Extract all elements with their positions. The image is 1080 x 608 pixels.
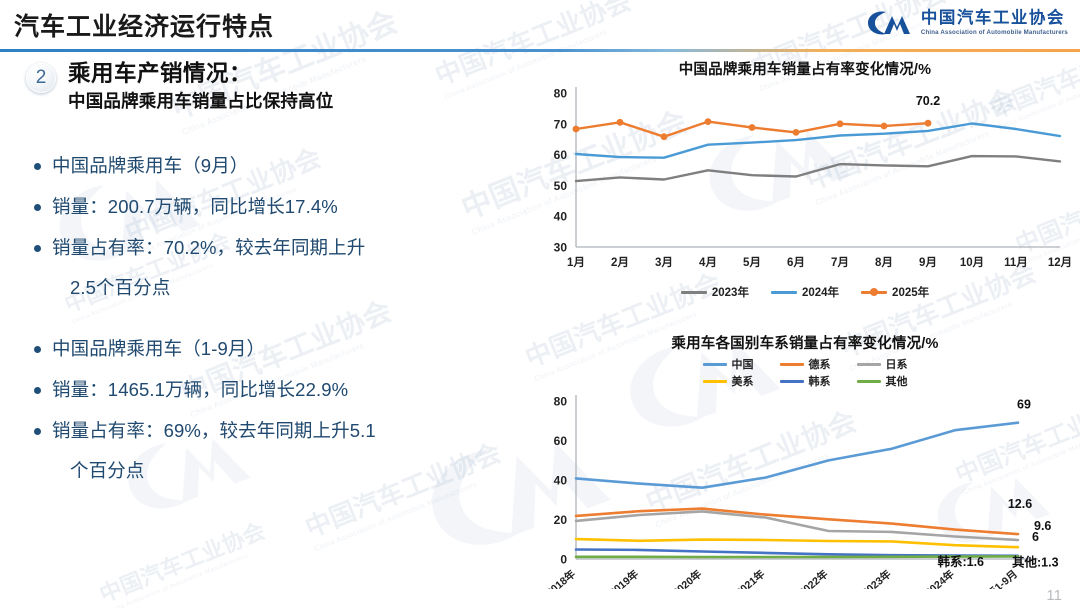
chart1-legend-item: 2025年: [861, 284, 929, 300]
chart2-legend: 中国德系日系美系韩系其他: [530, 356, 1080, 389]
svg-text:10月: 10月: [960, 256, 984, 269]
page-title: 汽车工业经济运行特点: [14, 7, 274, 43]
bullet-group-september: 中国品牌乘用车（9月）销量：200.7万辆，同比增长17.4%销量占有率：70.…: [34, 152, 514, 302]
logo-name-cn: 中国汽车工业协会: [921, 10, 1068, 27]
svg-text:20: 20: [554, 513, 568, 527]
section-heading: 2 乘用车产销情况： 中国品牌乘用车销量占比保持高位: [26, 60, 334, 113]
legend-swatch-icon: [857, 380, 881, 383]
svg-text:2020年: 2020年: [670, 567, 705, 589]
svg-text:0: 0: [560, 553, 567, 567]
bullet-dot-icon: [34, 346, 41, 353]
chart2-legend-item: 日系: [857, 356, 908, 372]
chart-china-brand-share: 中国品牌乘用车销量占有率变化情况/% 3040506070801月2月3月4月5…: [530, 58, 1080, 323]
svg-text:60: 60: [554, 148, 568, 162]
chart1-svg: 3040506070801月2月3月4月5月6月7月8月9月10月11月12月7…: [530, 79, 1080, 279]
svg-text:12月: 12月: [1048, 256, 1072, 269]
legend-swatch-icon: [857, 363, 881, 366]
svg-text:6月: 6月: [787, 256, 805, 269]
legend-label: 德系: [809, 356, 831, 372]
chart1-legend-item: 2024年: [771, 284, 839, 300]
legend-label: 日系: [886, 356, 908, 372]
bullet-dot-icon: [34, 428, 41, 435]
bullet-item: 2.5个百分点: [52, 274, 514, 302]
bullet-item: 中国品牌乘用车（9月）: [34, 152, 514, 180]
svg-text:1月: 1月: [567, 256, 585, 269]
bullet-spacer: [52, 285, 59, 292]
svg-text:70.2: 70.2: [916, 94, 940, 108]
bullet-text: 中国品牌乘用车（9月）: [52, 152, 248, 180]
bullet-item: 销量占有率：70.2%，较去年同期上升: [34, 234, 514, 262]
svg-text:9月: 9月: [919, 256, 937, 269]
bullet-text: 销量占有率：70.2%，较去年同期上升: [52, 234, 365, 262]
chart2-legend-item: 韩系: [780, 373, 831, 389]
page-header: 汽车工业经济运行特点 中国汽车工业协会 China Association of…: [0, 0, 1080, 52]
legend-swatch-icon: [771, 291, 797, 294]
bullet-text: 2.5个百分点: [70, 274, 170, 302]
svg-text:40: 40: [554, 210, 568, 224]
section-title-secondary: 中国品牌乘用车销量占比保持高位: [68, 90, 334, 113]
svg-text:30: 30: [554, 241, 568, 255]
bullet-list: 中国品牌乘用车（9月）销量：200.7万辆，同比增长17.4%销量占有率：70.…: [34, 152, 514, 498]
bullet-dot-icon: [34, 245, 41, 252]
bullet-text: 中国品牌乘用车（1-9月）: [52, 335, 265, 363]
bullet-group-spacer: [34, 315, 514, 335]
svg-text:50: 50: [554, 179, 568, 193]
svg-text:60: 60: [554, 434, 568, 448]
chart2-legend-item: 美系: [703, 373, 754, 389]
svg-text:3月: 3月: [655, 256, 673, 269]
legend-label: 美系: [732, 373, 754, 389]
bullet-text: 销量占有率：69%，较去年同期上升5.1: [52, 417, 376, 445]
chart1-title: 中国品牌乘用车销量占有率变化情况/%: [530, 58, 1080, 79]
svg-text:2024年: 2024年: [922, 567, 957, 589]
legend-label: 2023年: [712, 284, 749, 300]
caam-logo-icon: [866, 8, 912, 38]
section-number-badge: 2: [26, 63, 56, 93]
chart2-legend-item: 中国: [703, 356, 754, 372]
svg-text:2018年: 2018年: [544, 567, 579, 589]
bullet-dot-icon: [34, 387, 41, 394]
svg-text:40: 40: [554, 474, 568, 488]
svg-text:韩系:1.6: 韩系:1.6: [937, 554, 984, 569]
legend-label: 中国: [732, 356, 754, 372]
svg-text:11月: 11月: [1004, 256, 1028, 269]
svg-text:2019年: 2019年: [607, 567, 642, 589]
legend-swatch-icon: [861, 291, 887, 294]
svg-text:2025年1-9月: 2025年1-9月: [966, 567, 1020, 589]
bullet-text: 个百分点: [70, 457, 144, 485]
legend-swatch-icon: [780, 380, 804, 383]
legend-swatch-icon: [703, 363, 727, 366]
svg-text:6: 6: [1032, 530, 1039, 544]
svg-text:5月: 5月: [743, 256, 761, 269]
chart1-legend: 2023年2024年2025年: [530, 284, 1080, 300]
svg-text:70: 70: [554, 117, 568, 131]
chart1-plot: 3040506070801月2月3月4月5月6月7月8月9月10月11月12月7…: [530, 79, 1080, 279]
bullet-item: 中国品牌乘用车（1-9月）: [34, 335, 514, 363]
svg-text:2月: 2月: [611, 256, 629, 269]
svg-text:80: 80: [554, 87, 568, 101]
chart1-legend-item: 2023年: [681, 284, 749, 300]
svg-text:69: 69: [1017, 398, 1031, 412]
legend-label: 韩系: [809, 373, 831, 389]
svg-text:8月: 8月: [875, 256, 893, 269]
bullet-text: 销量：200.7万辆，同比增长17.4%: [52, 193, 338, 221]
svg-text:80: 80: [554, 395, 568, 409]
legend-label: 2025年: [892, 284, 929, 300]
bullet-item: 销量：1465.1万辆，同比增长22.9%: [34, 376, 514, 404]
chart2-legend-item: 其他: [857, 373, 908, 389]
legend-swatch-icon: [681, 291, 707, 294]
chart2-legend-item: 德系: [780, 356, 831, 372]
bullet-item: 销量：200.7万辆，同比增长17.4%: [34, 193, 514, 221]
bullet-dot-icon: [34, 163, 41, 170]
svg-text:7月: 7月: [831, 256, 849, 269]
org-logo: 中国汽车工业协会 China Association of Automobile…: [866, 8, 1068, 38]
bullet-item: 销量占有率：69%，较去年同期上升5.1: [34, 417, 514, 445]
page-number: 11: [1046, 587, 1062, 604]
bullet-item: 个百分点: [52, 457, 514, 485]
left-content-panel: 2 乘用车产销情况： 中国品牌乘用车销量占比保持高位 中国品牌乘用车（9月）销量…: [0, 52, 530, 608]
bullet-text: 销量：1465.1万辆，同比增长22.9%: [52, 376, 348, 404]
chart-share-by-origin: 乘用车各国别车系销量占有率变化情况/% 中国德系日系美系韩系其他 0204060…: [530, 332, 1080, 594]
chart2-plot: 0204060802018年2019年2020年2021年2022年2023年2…: [530, 389, 1080, 589]
svg-text:2023年: 2023年: [859, 567, 894, 589]
chart2-svg: 0204060802018年2019年2020年2021年2022年2023年2…: [530, 389, 1080, 589]
logo-name-en: China Association of Automobile Manufact…: [921, 30, 1068, 36]
svg-text:其他:1.3: 其他:1.3: [1012, 554, 1059, 569]
legend-label: 其他: [886, 373, 908, 389]
bullet-dot-icon: [34, 204, 41, 211]
legend-label: 2024年: [802, 284, 839, 300]
legend-swatch-icon: [780, 363, 804, 366]
bullet-spacer: [52, 468, 59, 475]
svg-text:4月: 4月: [699, 256, 717, 269]
bullet-group-jan-sep: 中国品牌乘用车（1-9月）销量：1465.1万辆，同比增长22.9%销量占有率：…: [34, 335, 514, 485]
svg-text:2021年: 2021年: [733, 567, 768, 589]
svg-text:12.6: 12.6: [1008, 497, 1032, 511]
section-title-primary: 乘用车产销情况：: [68, 60, 334, 87]
svg-text:2022年: 2022年: [796, 567, 831, 589]
header-divider: [0, 49, 1080, 52]
legend-swatch-icon: [703, 380, 727, 383]
chart2-title: 乘用车各国别车系销量占有率变化情况/%: [530, 332, 1080, 353]
